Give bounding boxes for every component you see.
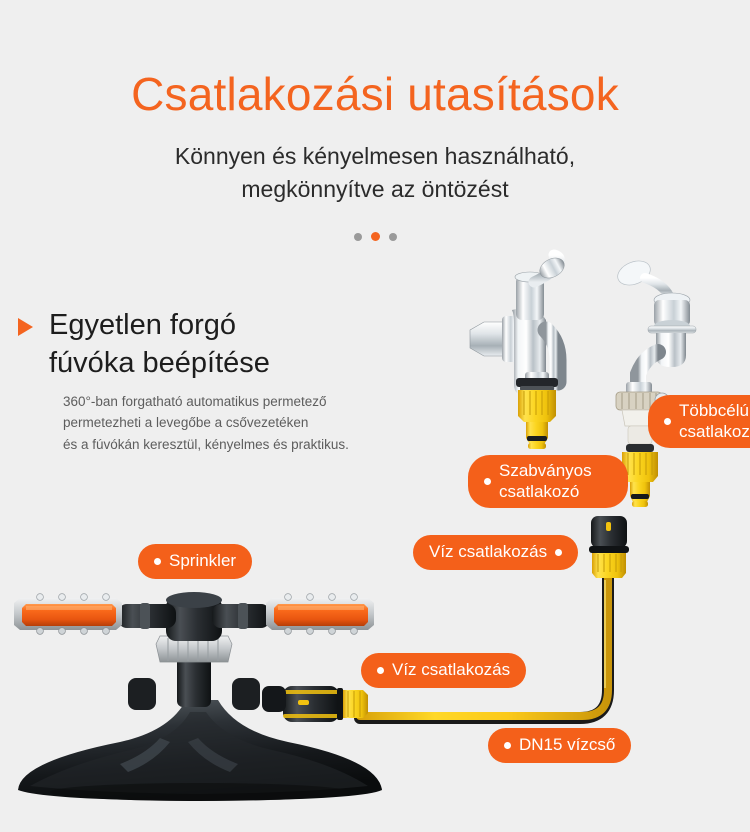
sprinkler-arm-left	[14, 594, 122, 635]
sprinkler-arm-right	[266, 594, 374, 635]
feature-description: 360°-ban forgatható automatikus permetez…	[63, 391, 448, 457]
subtitle-line-1: Könnyen és kényelmesen használható,	[175, 143, 575, 169]
feature-title-line-2: fúvóka beépítése	[49, 344, 270, 382]
pagination-dots	[0, 232, 750, 241]
bullet-dot-icon	[484, 478, 491, 485]
dot-1[interactable]	[354, 233, 362, 241]
page-title: Csatlakozási utasítások	[0, 68, 750, 121]
badge-standard-connector: Szabványos csatlakozó	[468, 455, 628, 508]
bullet-dot-icon	[555, 549, 562, 556]
badge-standard-connector-label: Szabványos csatlakozó	[499, 461, 592, 502]
badge-water-connection-mid-label: Víz csatlakozás	[392, 660, 510, 681]
feature-body-line-2: permetezheti a levegőbe a csővezetéken	[63, 412, 448, 434]
badge-dn15-hose: DN15 vízcső	[488, 728, 631, 763]
quick-connector-sprinkler-illustration	[283, 686, 368, 722]
bullet-dot-icon	[154, 558, 161, 565]
product-infographic-page: Csatlakozási utasítások Könnyen és kénye…	[0, 0, 750, 832]
garden-hose-illustration	[360, 575, 608, 718]
feature-heading-row: Egyetlen forgó fúvóka beépítése	[18, 306, 448, 383]
dot-3[interactable]	[389, 233, 397, 241]
badge-standard-line-2: csatlakozó	[499, 482, 592, 503]
feature-body-line-1: 360°-ban forgatható automatikus permetez…	[63, 391, 448, 413]
badge-multi-line-1: Többcélú	[679, 401, 750, 422]
badge-multi-connector: Többcélú csatlakozó	[648, 395, 750, 448]
badge-sprinkler: Sprinkler	[138, 544, 252, 579]
badge-water-connection-top: Víz csatlakozás	[413, 535, 578, 570]
dot-2-active[interactable]	[371, 232, 380, 241]
feature-block: Egyetlen forgó fúvóka beépítése 360°-ban…	[18, 306, 448, 456]
bullet-dot-icon	[377, 667, 384, 674]
subtitle-line-2: megkönnyítve az öntözést	[0, 173, 750, 206]
feature-title: Egyetlen forgó fúvóka beépítése	[49, 306, 270, 383]
badge-multi-line-2: csatlakozó	[679, 422, 750, 443]
quick-connector-top-illustration	[589, 516, 629, 578]
badge-water-connection-top-label: Víz csatlakozás	[429, 542, 547, 563]
triangle-right-icon	[18, 318, 33, 336]
badge-multi-connector-label: Többcélú csatlakozó	[679, 401, 750, 442]
feature-body-line-3: és a fúvókán keresztül, kényelmes és pra…	[63, 434, 448, 456]
bullet-dot-icon	[664, 418, 671, 425]
badge-sprinkler-label: Sprinkler	[169, 551, 236, 572]
badge-dn15-hose-label: DN15 vízcső	[519, 735, 615, 756]
bullet-dot-icon	[504, 742, 511, 749]
feature-title-line-1: Egyetlen forgó	[49, 309, 236, 341]
faucet-wall-illustration	[470, 254, 568, 449]
page-subtitle: Könnyen és kényelmesen használható, megk…	[0, 140, 750, 205]
badge-standard-line-1: Szabványos	[499, 461, 592, 482]
badge-water-connection-mid: Víz csatlakozás	[361, 653, 526, 688]
